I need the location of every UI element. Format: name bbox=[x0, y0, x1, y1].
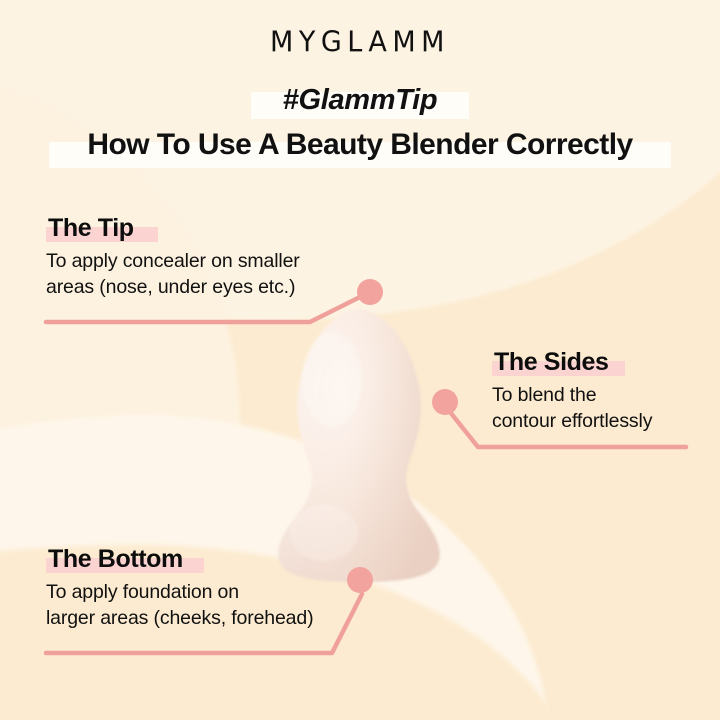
glamm-tip-tag: #GlammTip bbox=[269, 84, 452, 117]
bottom-body-line-2: larger areas (cheeks, forehead) bbox=[46, 605, 313, 631]
tip-title: The Tip bbox=[46, 214, 136, 243]
sides-body-line-1: To blend the bbox=[492, 382, 652, 408]
infographic-canvas: MYGLAMM #GlammTip How To Use A Beauty Bl… bbox=[0, 0, 720, 720]
page-title: How To Use A Beauty Blender Correctly bbox=[87, 128, 632, 162]
annotation-sides: The Sides To blend the contour effortles… bbox=[492, 348, 652, 434]
brand-logo: MYGLAMM bbox=[0, 26, 720, 59]
sides-body: To blend the contour effortlessly bbox=[492, 382, 652, 434]
page-title-container: How To Use A Beauty Blender Correctly bbox=[0, 128, 720, 172]
sides-body-line-2: contour effortlessly bbox=[492, 408, 652, 434]
tip-marker-dot bbox=[357, 279, 383, 305]
bottom-title: The Bottom bbox=[46, 545, 185, 574]
glamm-tip-tag-container: #GlammTip bbox=[0, 84, 720, 118]
annotation-bottom: The Bottom To apply foundation on larger… bbox=[46, 545, 313, 631]
annotation-tip: The Tip To apply concealer on smaller ar… bbox=[46, 214, 300, 300]
sides-title: The Sides bbox=[492, 348, 611, 377]
beauty-blender-sponge bbox=[258, 305, 460, 583]
tip-body: To apply concealer on smaller areas (nos… bbox=[46, 248, 300, 300]
tip-body-line-1: To apply concealer on smaller bbox=[46, 248, 300, 274]
tip-body-line-2: areas (nose, under eyes etc.) bbox=[46, 274, 300, 300]
bottom-body-line-1: To apply foundation on bbox=[46, 579, 313, 605]
bottom-body: To apply foundation on larger areas (che… bbox=[46, 579, 313, 631]
